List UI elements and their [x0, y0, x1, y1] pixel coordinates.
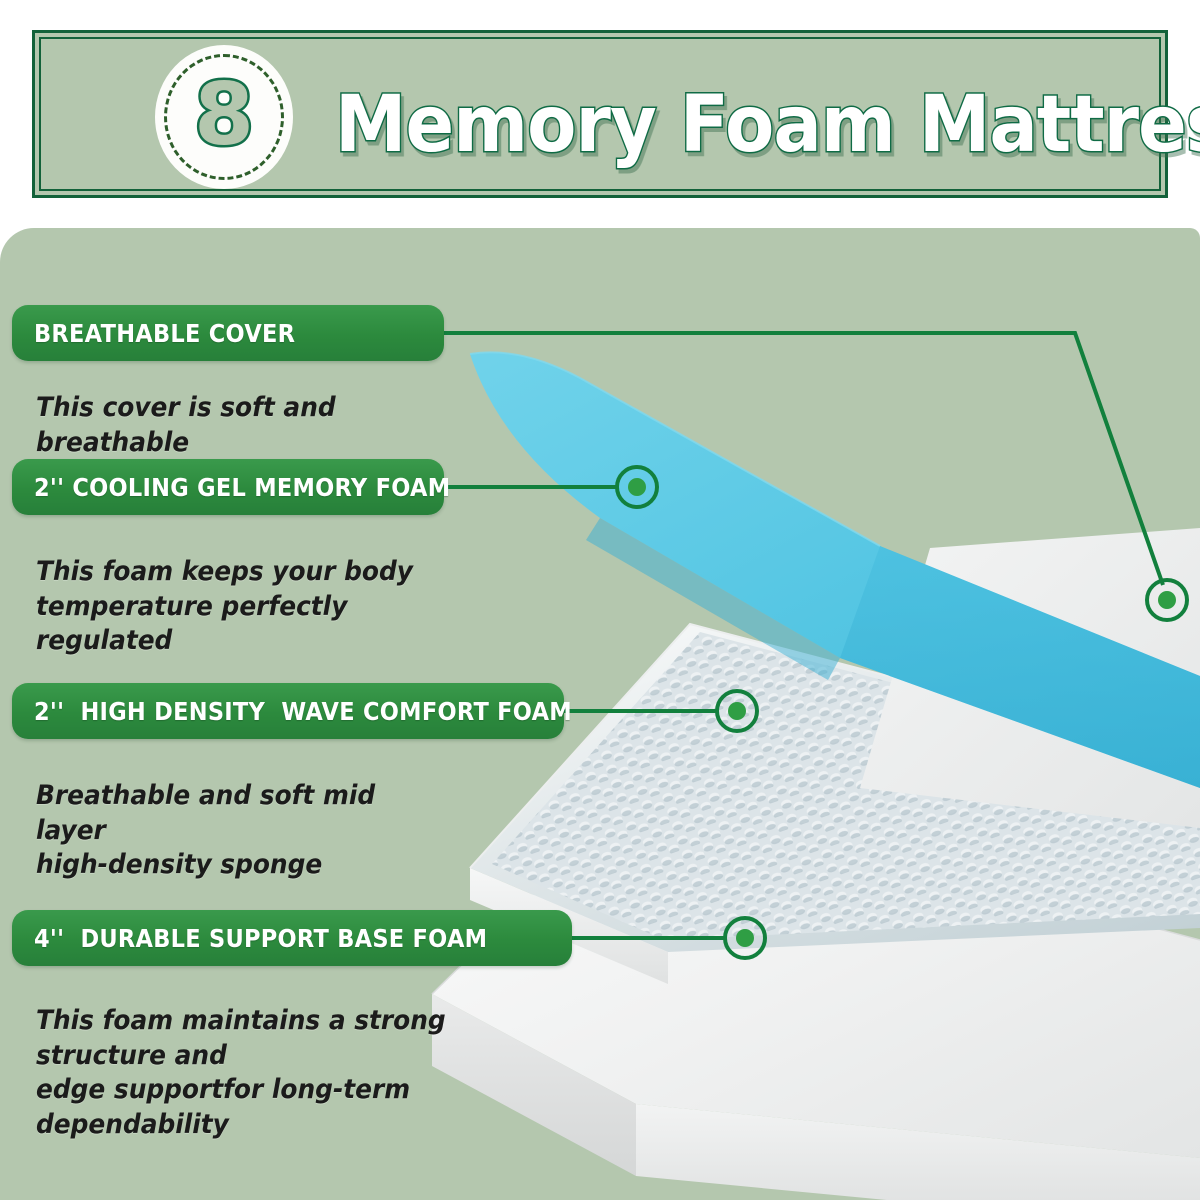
header-banner: 8 Memory Foam Mattress [32, 30, 1168, 198]
layer-pill-label: 2'' HIGH DENSITY WAVE COMFORT FOAM [34, 697, 572, 726]
layer-pill-label: BREATHABLE COVER [34, 319, 295, 348]
layer-description-breathable-cover: This cover is soft and breathable [36, 391, 422, 460]
layer-pill-breathable-cover[interactable]: BREATHABLE COVER [12, 305, 444, 361]
layer-pill-high-density-wave-comfort-foam[interactable]: 2'' HIGH DENSITY WAVE COMFORT FOAM [12, 683, 564, 739]
layer-pill-label: 2'' COOLING GEL MEMORY FOAM [34, 473, 450, 502]
page-title: Memory Foam Mattress [335, 77, 1089, 173]
step-number-value: 8 [194, 72, 254, 158]
layer-pill-cooling-gel-memory-foam[interactable]: 2'' COOLING GEL MEMORY FOAM [12, 459, 444, 515]
layer-description-durable-support-base-foam: This foam maintains a strong structure a… [36, 1004, 514, 1142]
infographic-root: 8 Memory Foam Mattress [0, 0, 1200, 1200]
layer-description-high-density-wave-comfort-foam: Breathable and soft mid layer high-densi… [36, 779, 441, 883]
layer-description-cooling-gel-memory-foam: This foam keeps your body temperature pe… [36, 555, 441, 659]
layer-pill-label: 4'' DURABLE SUPPORT BASE FOAM [34, 924, 487, 953]
step-number-badge: 8 [155, 45, 293, 189]
content-panel: BREATHABLE COVER This cover is soft and … [0, 228, 1200, 1200]
layer-pill-durable-support-base-foam[interactable]: 4'' DURABLE SUPPORT BASE FOAM [12, 910, 572, 966]
